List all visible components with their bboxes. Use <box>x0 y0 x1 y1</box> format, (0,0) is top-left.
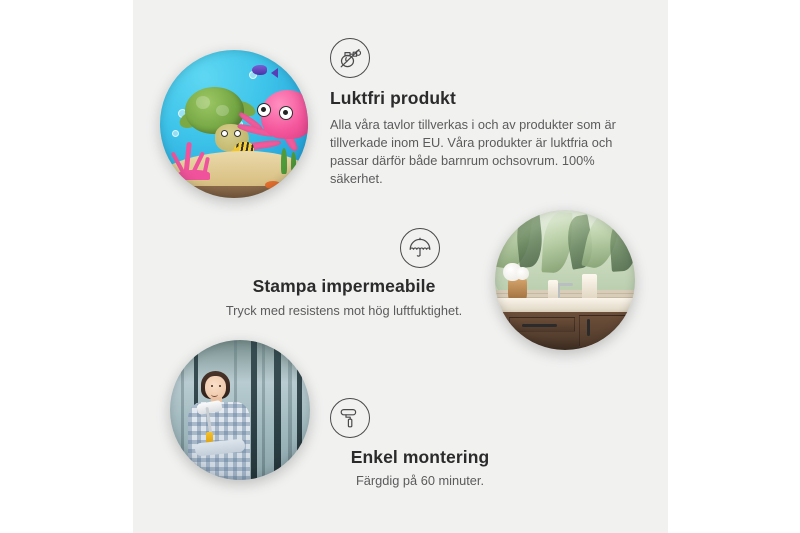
woman-eye <box>219 385 221 387</box>
paint-roller-icon <box>330 398 370 438</box>
turtle-eye <box>221 130 228 137</box>
drawer-handle <box>522 324 557 327</box>
flower-bloom <box>516 267 529 280</box>
door-handle <box>587 319 590 336</box>
feature-body: Färgdig på 60 minuter. <box>300 472 540 490</box>
bathroom-scene <box>495 210 635 350</box>
feature-easy-install: Enkel montering Färgdig på 60 minuter. <box>300 398 540 490</box>
tree-trunk <box>274 340 281 480</box>
tree-trunk <box>288 340 292 480</box>
sea-floor-rock <box>160 186 308 198</box>
tree-trunk <box>251 340 257 480</box>
tree-trunk <box>262 340 265 480</box>
painter-scene <box>170 340 310 480</box>
coral-bed <box>178 170 211 180</box>
vanity-cabinet <box>501 312 635 350</box>
feature-title: Stampa impermeabile <box>218 276 470 297</box>
seaweed <box>291 152 296 171</box>
feature-body: Alla våra tavlor tillverkas i och av pro… <box>330 116 620 189</box>
feature-odourless: Luktfri produkt Alla våra tavlor tillver… <box>330 38 620 189</box>
tree-trunk <box>181 340 184 480</box>
product-feature-infographic: Luktfri produkt Alla våra tavlor tillver… <box>0 0 800 533</box>
fish-purple <box>252 65 267 75</box>
umbrella-icon <box>400 228 440 268</box>
woman-eye <box>211 385 213 387</box>
faucet-spout <box>557 283 574 286</box>
ocean-scene <box>160 50 308 198</box>
fish-tail <box>271 68 278 78</box>
leaf-shape <box>514 210 545 268</box>
feature-title: Luktfri produkt <box>330 88 620 109</box>
feature-body: Tryck med resistens mot hög luftfuktighe… <box>218 302 470 320</box>
feature-waterproof: Stampa impermeabile Tryck med resistens … <box>218 228 470 320</box>
medallion-bathroom-photo <box>495 210 635 350</box>
medallion-painter-photo <box>170 340 310 480</box>
bubble-icon <box>172 130 179 137</box>
turtle-eye <box>234 130 241 137</box>
feature-title: Enkel montering <box>300 447 540 468</box>
medallion-ocean-mural <box>160 50 308 198</box>
no-odour-spray-bottle-icon <box>330 38 370 78</box>
woman-smile <box>211 392 218 397</box>
